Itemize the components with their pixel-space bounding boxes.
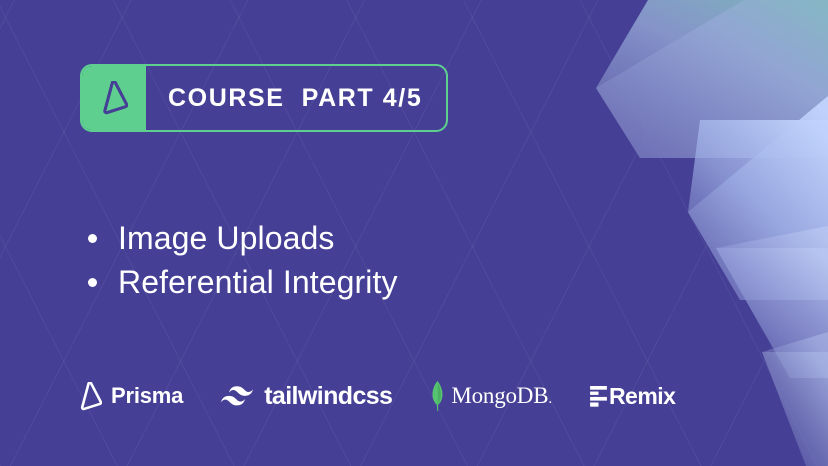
slide-canvas: COURSE PART 4/5 Image Uploads Referentia…: [0, 0, 828, 466]
bullet-dot-icon: [88, 234, 97, 243]
prisma-triangle-icon: [100, 81, 128, 115]
topic-label: Referential Integrity: [118, 260, 398, 304]
logo-mongodb: MongoDB.: [430, 381, 552, 411]
logo-remix: Remix: [590, 383, 676, 410]
list-item: Referential Integrity: [88, 260, 398, 304]
course-part-badge: COURSE PART 4/5: [80, 64, 448, 132]
badge-prisma-logo: [82, 66, 146, 130]
logo-remix-label: Remix: [609, 383, 676, 410]
bullet-dot-icon: [88, 278, 97, 287]
remix-r-icon: [590, 386, 607, 407]
list-item: Image Uploads: [88, 216, 398, 260]
logo-tailwindcss: tailwindcss: [221, 382, 392, 411]
tailwind-wave-icon: [221, 386, 253, 406]
topic-list: Image Uploads Referential Integrity: [88, 216, 398, 304]
badge-label: COURSE PART 4/5: [146, 66, 446, 130]
logo-mongodb-name: MongoDB: [451, 383, 548, 408]
mongodb-leaf-icon: [430, 381, 445, 411]
logo-tailwindcss-label: tailwindcss: [264, 382, 392, 411]
logo-prisma: Prisma: [78, 382, 183, 411]
logo-mongodb-suffix: .: [548, 391, 552, 407]
technology-logo-strip: Prisma tailwindcss MongoDB.: [78, 381, 675, 411]
prisma-triangle-icon: [78, 382, 102, 411]
topic-label: Image Uploads: [118, 216, 335, 260]
logo-prisma-label: Prisma: [111, 383, 183, 409]
logo-mongodb-label: MongoDB.: [451, 383, 552, 409]
